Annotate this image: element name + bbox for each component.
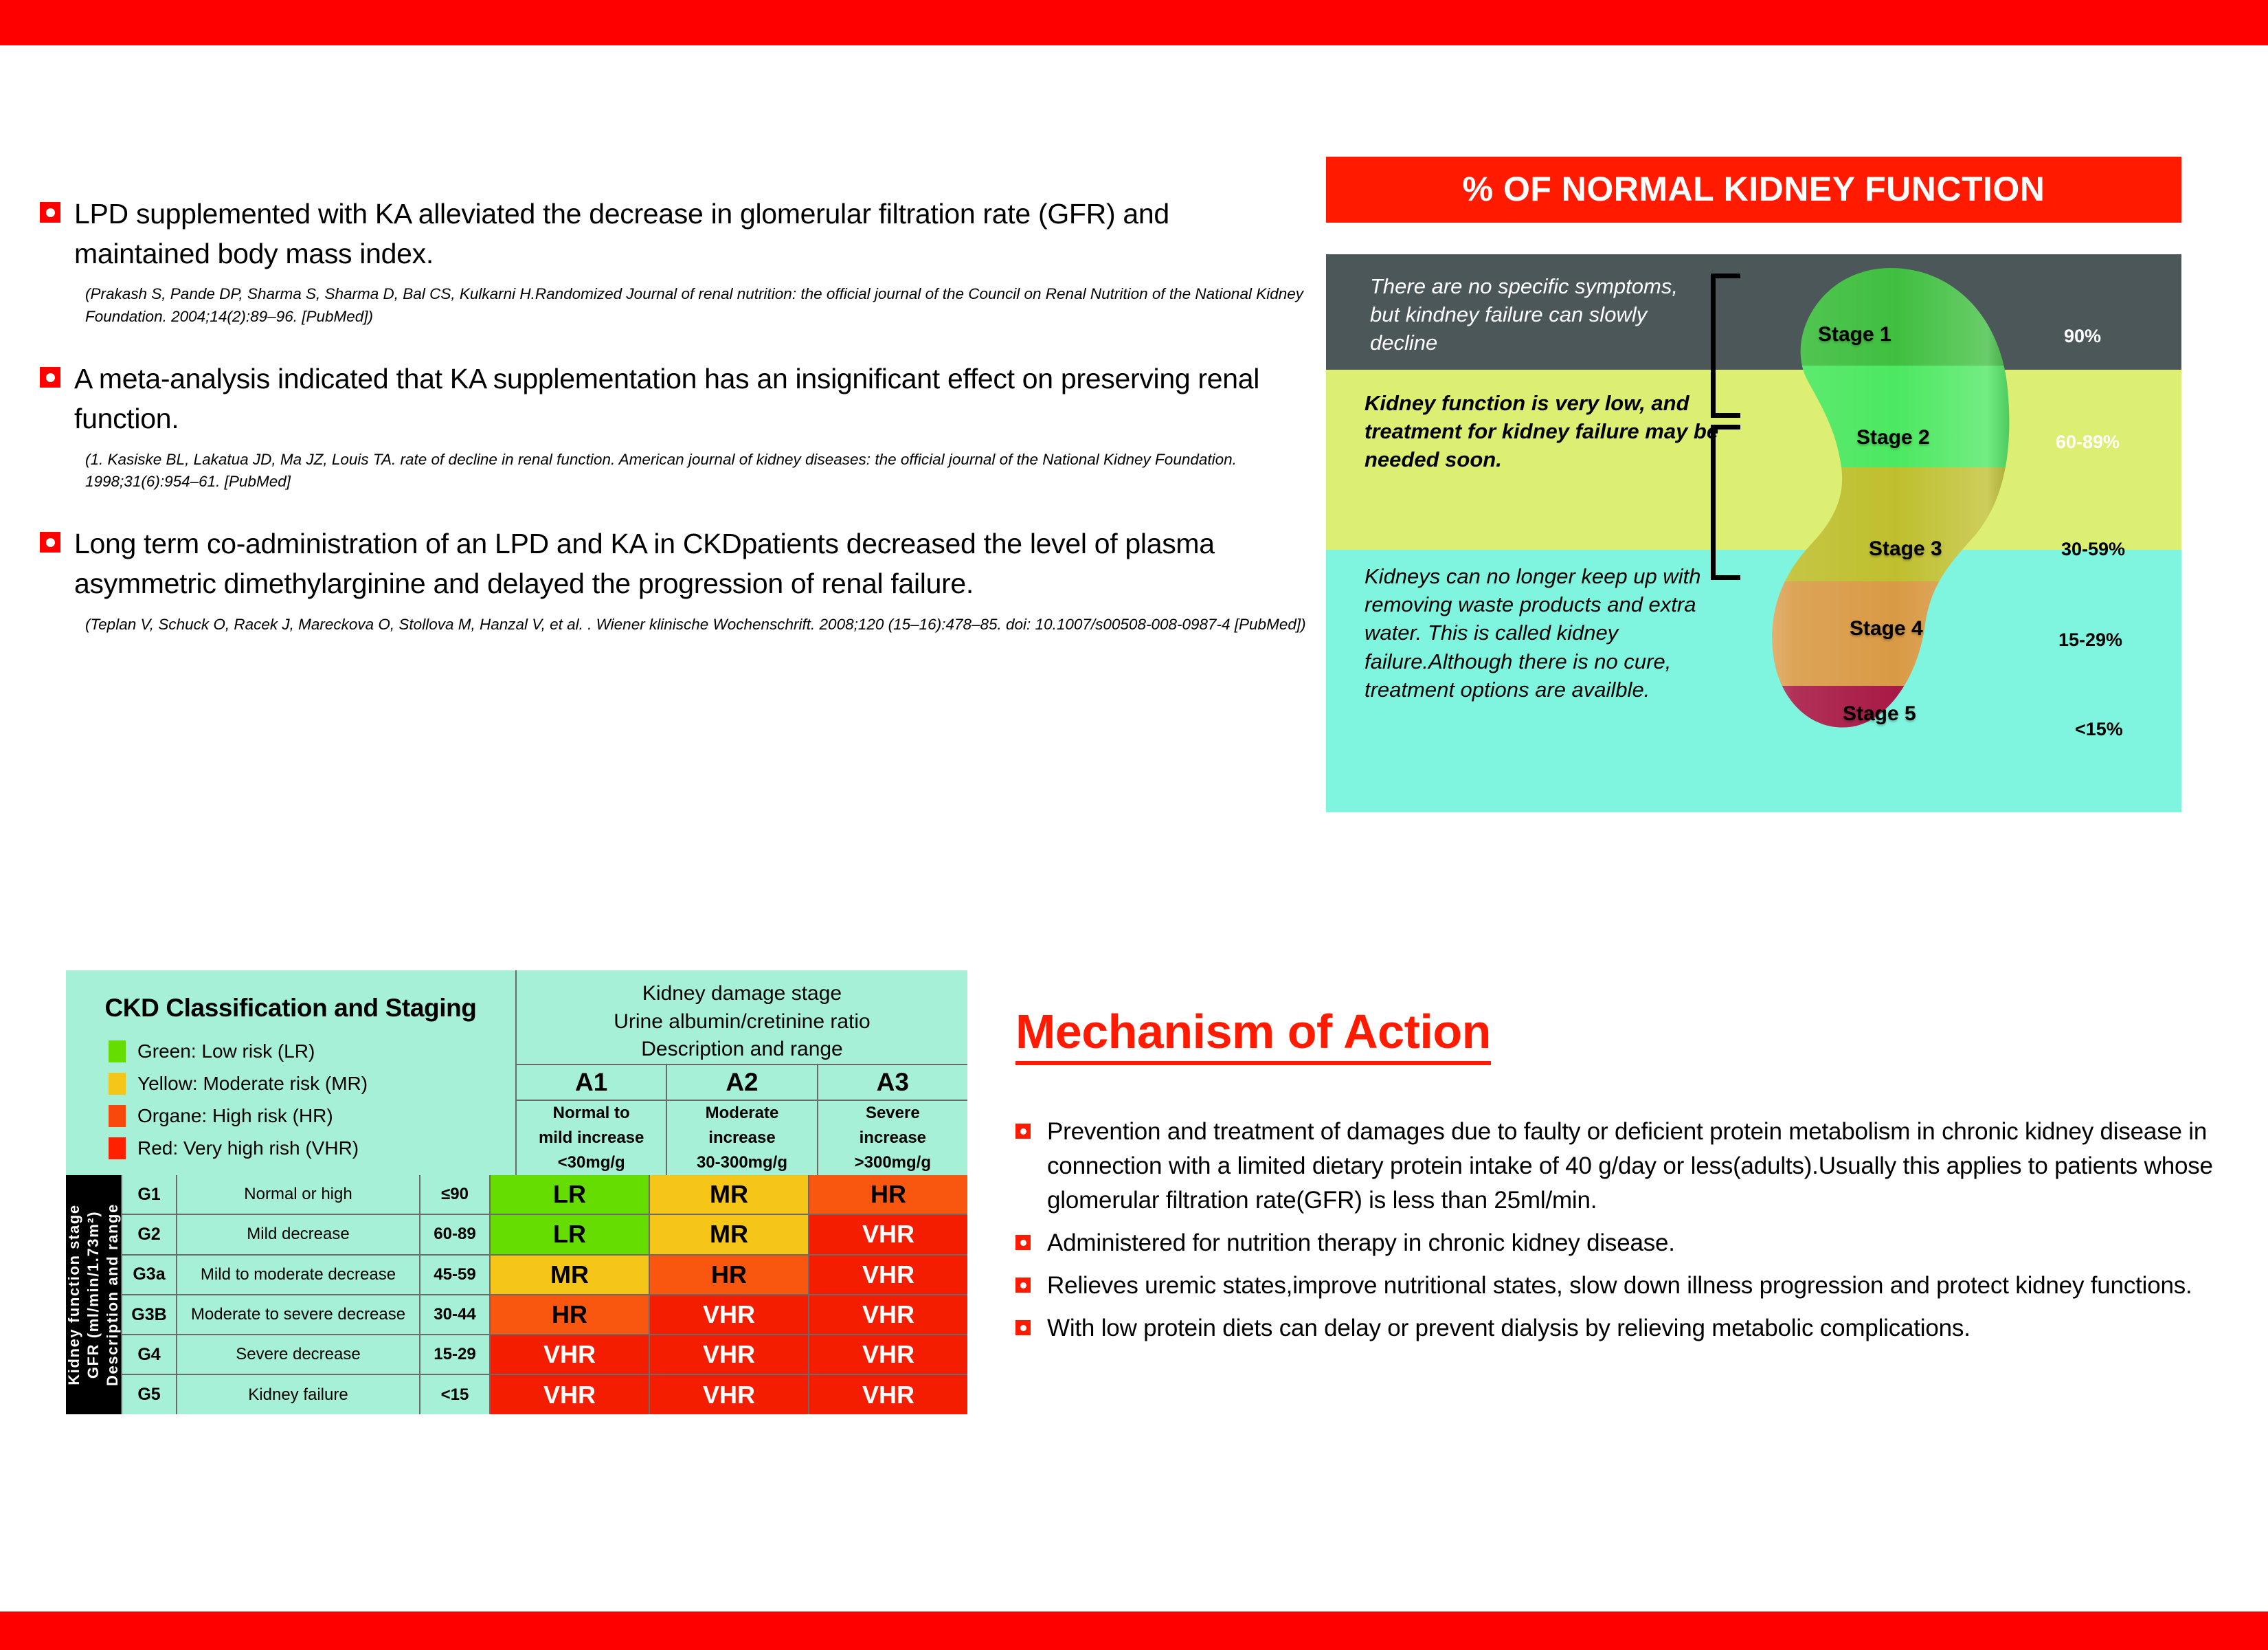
risk-cell-a1: MR (491, 1256, 650, 1294)
row-desc: Moderate to severe decrease (177, 1295, 420, 1334)
ckd-table-heading: CKD Classification and Staging (66, 994, 515, 1023)
mechanism-item: Administered for nutrition therapy in ch… (1015, 1226, 2225, 1260)
risk-cell-a3: VHR (809, 1295, 967, 1334)
row-desc: Mild decrease (177, 1215, 420, 1253)
square-bullet-icon (40, 532, 60, 553)
a1-line: Normal to (539, 1101, 644, 1126)
stage-percent-1: 90% (2064, 326, 2101, 347)
a1-line: <30mg/g (539, 1150, 644, 1175)
finding-citation: (Teplan V, Schuck O, Racek J, Mareckova … (85, 614, 1315, 636)
mechanism-list: Prevention and treatment of damages due … (1015, 1115, 2225, 1346)
ckd-table-body: Kidney function stage GFR (ml/min/1.73m²… (66, 1175, 967, 1414)
a2-line: 30-300mg/g (697, 1150, 787, 1175)
ckd-legend-box: CKD Classification and Staging Green: Lo… (66, 970, 515, 1175)
row-stage: G4 (121, 1335, 177, 1374)
stage-percent-2: 60-89% (2056, 432, 2120, 453)
square-bullet-icon (40, 202, 60, 223)
risk-cell-a2: MR (650, 1175, 809, 1214)
row-range: ≤90 (420, 1175, 491, 1214)
finding-item: Long term co-administration of an LPD an… (33, 524, 1311, 636)
brace-icon-lower (1711, 425, 1740, 580)
gfr-axis-label-column: Kidney function stage GFR (ml/min/1.73m²… (66, 1175, 121, 1414)
square-bullet-icon (1015, 1124, 1031, 1139)
table-row: G3a Mild to moderate decrease 45-59 MR H… (121, 1256, 967, 1295)
table-row: G3B Moderate to severe decrease 30-44 HR… (121, 1295, 967, 1335)
albuminuria-code-row: A1 A2 A3 (517, 1065, 967, 1102)
risk-cell-a2: VHR (650, 1295, 809, 1334)
mechanism-item: With low protein diets can delay or prev… (1015, 1311, 2225, 1346)
a2-line: Moderate (697, 1101, 787, 1126)
legend-label: Organe: High risk (HR) (137, 1105, 333, 1127)
albuminuria-description-row: Normal to mild increase <30mg/g Moderate… (517, 1101, 967, 1175)
legend-label: Yellow: Moderate risk (MR) (137, 1073, 368, 1095)
stage-percent-3: 30-59% (2061, 539, 2125, 560)
risk-cell-a2: VHR (650, 1375, 809, 1414)
gfr-axis-label: Kidney function stage GFR (ml/min/1.73m²… (65, 1203, 122, 1386)
column-header-a3: A3 (818, 1065, 967, 1100)
bottom-red-bar (0, 1612, 2268, 1650)
row-desc: Kidney failure (177, 1375, 420, 1414)
finding-text: LPD supplemented with KA alleviated the … (74, 194, 1311, 274)
mechanism-item: Prevention and treatment of damages due … (1015, 1115, 2225, 1218)
risk-cell-a1: LR (491, 1175, 650, 1214)
findings-list: LPD supplemented with KA alleviated the … (33, 194, 1311, 643)
finding-citation: (1. Kasiske BL, Lakatua JD, Ma JZ, Louis… (85, 449, 1315, 494)
column-header-a1: A1 (517, 1065, 667, 1100)
legend-item-low-risk: Green: Low risk (LR) (109, 1040, 515, 1062)
risk-cell-a1: HR (491, 1295, 650, 1334)
mechanism-of-action-section: Mechanism of Action Prevention and treat… (1015, 1007, 2225, 1354)
kidney-damage-column-group: Kidney damage stage Urine albumin/cretin… (515, 970, 967, 1175)
risk-cell-a1: VHR (491, 1335, 650, 1374)
risk-cell-a1: LR (491, 1215, 650, 1253)
stage-label-2: Stage 2 (1856, 426, 1930, 449)
band-description-1: There are no specific symptoms, but kind… (1370, 272, 1707, 357)
gfr-axis-line: Description and range (103, 1203, 122, 1386)
risk-cell-a3: VHR (809, 1375, 967, 1414)
mechanism-title: Mechanism of Action (1015, 1007, 1491, 1065)
risk-cell-a2: MR (650, 1215, 809, 1253)
ckd-rows: G1 Normal or high ≤90 LR MR HR G2 Mild d… (121, 1175, 967, 1414)
legend-swatch-green (109, 1040, 126, 1062)
row-range: 45-59 (420, 1256, 491, 1294)
row-range: <15 (420, 1375, 491, 1414)
damage-stage-title: Kidney damage stage Urine albumin/cretin… (517, 970, 967, 1065)
risk-legend: Green: Low risk (LR) Yellow: Moderate ri… (66, 1040, 515, 1159)
ckd-table-header: CKD Classification and Staging Green: Lo… (66, 970, 967, 1175)
legend-swatch-red (109, 1137, 126, 1159)
stage-label-1: Stage 1 (1818, 323, 1891, 346)
row-desc: Severe decrease (177, 1335, 420, 1374)
gfr-axis-line: GFR (ml/min/1.73m²) (84, 1203, 103, 1386)
a1-line: mild increase (539, 1126, 644, 1150)
legend-label: Red: Very high rish (VHR) (137, 1137, 359, 1159)
legend-item-moderate-risk: Yellow: Moderate risk (MR) (109, 1073, 515, 1095)
column-desc-a1: Normal to mild increase <30mg/g (517, 1101, 667, 1175)
stage-percent-4: 15-29% (2058, 629, 2122, 651)
ckd-classification-table: CKD Classification and Staging Green: Lo… (66, 970, 967, 1414)
brace-icon-upper (1711, 274, 1740, 418)
square-bullet-icon (40, 367, 60, 388)
table-row: G2 Mild decrease 60-89 LR MR VHR (121, 1215, 967, 1255)
row-range: 60-89 (420, 1215, 491, 1253)
finding-text: A meta-analysis indicated that KA supple… (74, 359, 1311, 438)
a3-line: >300mg/g (855, 1150, 931, 1175)
kidney-stage-panel: There are no specific symptoms, but kind… (1326, 254, 2181, 812)
stage-label-3: Stage 3 (1869, 537, 1942, 561)
a3-line: Severe (855, 1101, 931, 1126)
gfr-axis-line: Kidney function stage (65, 1203, 84, 1386)
row-desc: Normal or high (177, 1175, 420, 1214)
row-stage: G3B (121, 1295, 177, 1334)
kidney-function-infographic: % OF NORMAL KIDNEY FUNCTION There are no… (1326, 157, 2181, 812)
column-desc-a2: Moderate increase 30-300mg/g (667, 1101, 818, 1175)
spacer (33, 335, 1311, 359)
stage-label-5: Stage 5 (1843, 702, 1916, 726)
mechanism-text: Administered for nutrition therapy in ch… (1047, 1226, 2225, 1260)
damage-title-line: Urine albumin/cretinine ratio (517, 1008, 967, 1036)
row-desc: Mild to moderate decrease (177, 1256, 420, 1294)
spacer (33, 500, 1311, 524)
row-stage: G3a (121, 1256, 177, 1294)
legend-item-very-high-risk: Red: Very high rish (VHR) (109, 1137, 515, 1159)
risk-cell-a3: HR (809, 1175, 967, 1214)
risk-cell-a2: VHR (650, 1335, 809, 1374)
risk-cell-a3: VHR (809, 1215, 967, 1253)
square-bullet-icon (1015, 1278, 1031, 1293)
table-row: G5 Kidney failure <15 VHR VHR VHR (121, 1375, 967, 1414)
row-stage: G1 (121, 1175, 177, 1214)
stage-label-4: Stage 4 (1850, 617, 1923, 640)
table-row: G1 Normal or high ≤90 LR MR HR (121, 1175, 967, 1215)
mechanism-text: Prevention and treatment of damages due … (1047, 1115, 2225, 1218)
risk-cell-a2: HR (650, 1256, 809, 1294)
square-bullet-icon (1015, 1235, 1031, 1250)
risk-cell-a1: VHR (491, 1375, 650, 1414)
mechanism-text: Relieves uremic states,improve nutrition… (1047, 1269, 2225, 1303)
finding-item: LPD supplemented with KA alleviated the … (33, 194, 1311, 328)
a3-line: increase (855, 1126, 931, 1150)
row-stage: G2 (121, 1215, 177, 1253)
mechanism-text: With low protein diets can delay or prev… (1047, 1311, 2225, 1346)
row-range: 30-44 (420, 1295, 491, 1334)
kidney-infographic-title: % OF NORMAL KIDNEY FUNCTION (1326, 157, 2181, 223)
square-bullet-icon (1015, 1320, 1031, 1335)
damage-title-line: Kidney damage stage (517, 980, 967, 1008)
legend-label: Green: Low risk (LR) (137, 1040, 315, 1062)
legend-swatch-orange (109, 1105, 126, 1127)
column-desc-a3: Severe increase >300mg/g (818, 1101, 967, 1175)
table-row: G4 Severe decrease 15-29 VHR VHR VHR (121, 1335, 967, 1375)
mechanism-item: Relieves uremic states,improve nutrition… (1015, 1269, 2225, 1303)
risk-cell-a3: VHR (809, 1256, 967, 1294)
column-header-a2: A2 (667, 1065, 818, 1100)
row-range: 15-29 (420, 1335, 491, 1374)
stage-percent-5: <15% (2075, 719, 2123, 740)
damage-title-line: Description and range (517, 1036, 967, 1064)
finding-citation: (Prakash S, Pande DP, Sharma S, Sharma D… (85, 283, 1315, 328)
row-stage: G5 (121, 1375, 177, 1414)
finding-text: Long term co-administration of an LPD an… (74, 524, 1311, 603)
legend-swatch-yellow (109, 1073, 126, 1095)
band-description-3: Kidneys can no longer keep up with remov… (1365, 562, 1729, 704)
band-description-2: Kidney function is very low, and treatme… (1365, 389, 1722, 474)
risk-cell-a3: VHR (809, 1335, 967, 1374)
legend-item-high-risk: Organe: High risk (HR) (109, 1105, 515, 1127)
a2-line: increase (697, 1126, 787, 1150)
top-red-bar (0, 0, 2268, 45)
finding-item: A meta-analysis indicated that KA supple… (33, 359, 1311, 493)
